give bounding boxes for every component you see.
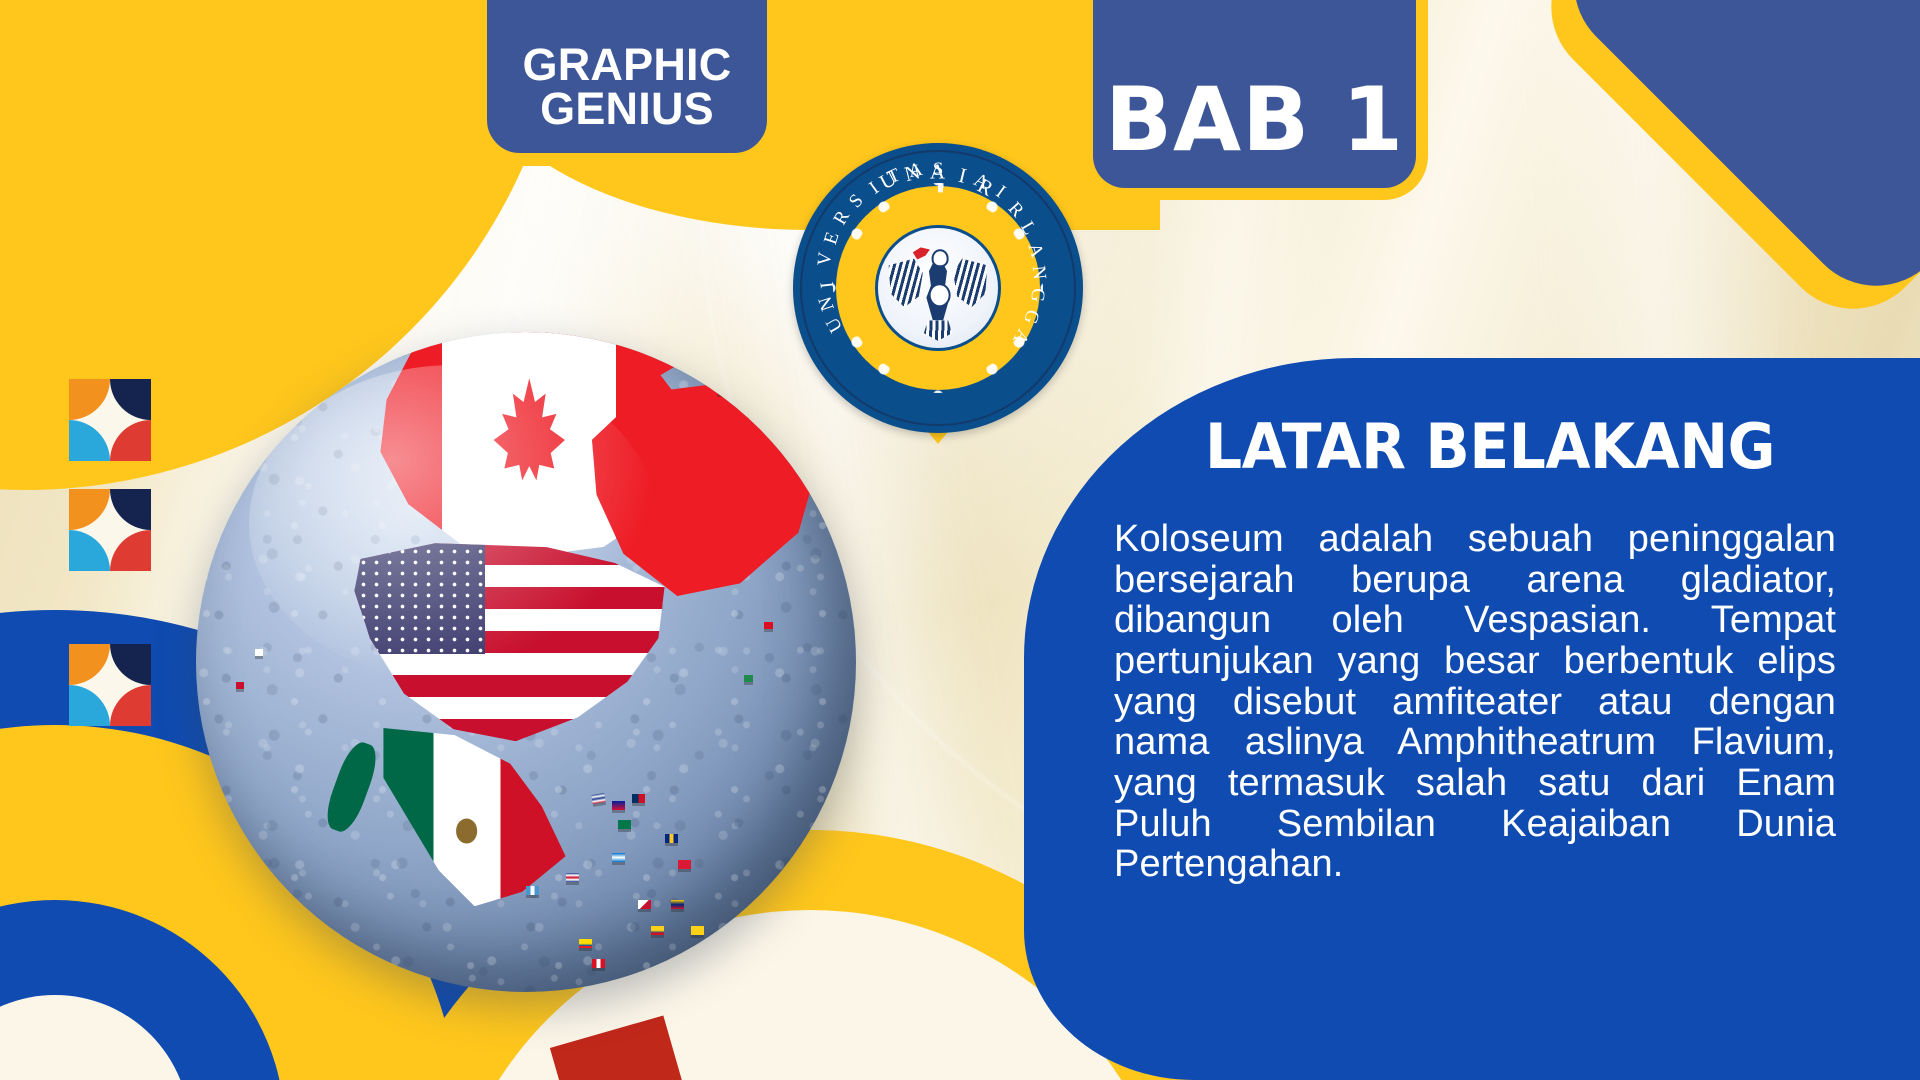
- unair-seal-logo: UNIVERSITAS AIRLANGGAUNAIR: [793, 143, 1083, 433]
- seal-ring-letter: I: [817, 281, 840, 290]
- quad-cyan-quarter: [69, 530, 110, 571]
- usa-flag-stars: [354, 543, 484, 654]
- seal-ring-letter: L: [1015, 218, 1040, 239]
- seal-ring-letter: N: [1027, 265, 1050, 281]
- seal-ring-letter: G: [1025, 287, 1048, 303]
- quad-square-decoration: [69, 379, 151, 461]
- seal-ring-letter: V: [814, 251, 837, 267]
- canada-east-flag-region: [592, 385, 816, 596]
- quad-navy-quarter: [110, 489, 151, 530]
- jamaica-flag-marker: [618, 820, 631, 829]
- quad-red-quarter: [110, 685, 151, 726]
- brazil-flag-marker: [704, 939, 717, 948]
- brand-badge-graphic-genius[interactable]: GRAPHIC GENIUS: [474, 0, 780, 166]
- seal-ring-text: UNIVERSITAS AIRLANGGAUNAIR: [793, 143, 1083, 433]
- baja-california-shape: [320, 738, 383, 836]
- mexico-flag-emblem: [456, 819, 478, 844]
- maple-leaf-icon: [494, 378, 565, 497]
- trinidad-flag-marker: [678, 860, 691, 869]
- content-panel: LATAR BELAKANG Koloseum adalah sebuah pe…: [1024, 358, 1920, 1080]
- quad-red-quarter: [110, 420, 151, 461]
- quad-square-decoration: [69, 644, 151, 726]
- pacific-flag-marker: [236, 682, 244, 689]
- colombia-flag-marker: [651, 926, 664, 935]
- usa-flag-region: [354, 543, 664, 741]
- quad-orange-quarter: [69, 489, 110, 530]
- ecuador-flag-marker: [579, 939, 592, 948]
- honduras-flag-marker: [612, 853, 625, 862]
- barbados-flag-marker: [665, 834, 678, 843]
- quad-navy-quarter: [110, 644, 151, 685]
- mexico-flag-region: [368, 728, 566, 906]
- quad-cyan-quarter: [69, 685, 110, 726]
- seal-ring-letter: S: [845, 190, 868, 213]
- chapter-badge-label: BAB 1: [1105, 76, 1404, 164]
- presentation-slide: UNIVERSITAS AIRLANGGAUNAIR GRAPHIC GENIU…: [0, 0, 1920, 1080]
- guatemala-flag-marker: [526, 886, 539, 895]
- seal-ring-letter: A: [1007, 325, 1033, 348]
- quad-orange-quarter: [69, 644, 110, 685]
- seal-ring-letter: A: [930, 160, 946, 185]
- seal-ring-letter: E: [820, 229, 845, 247]
- dominican-republic-flag-marker: [632, 794, 645, 803]
- greenland-flag-marker: [698, 365, 708, 373]
- venezuela-flag-marker: [671, 900, 684, 909]
- quad-cyan-quarter: [69, 420, 110, 461]
- seal-ring-letter: A: [1022, 241, 1047, 261]
- seal-ring-letter: R: [829, 207, 854, 229]
- guyana-flag-marker: [691, 926, 704, 935]
- greenland-flag-marker: [717, 385, 729, 394]
- quad-red-quarter: [110, 530, 151, 571]
- usa-flag-canton: [354, 543, 484, 654]
- costa-rica-flag-marker: [566, 873, 579, 882]
- globe-continents: [196, 332, 856, 992]
- seal-ring-letter: U: [822, 313, 848, 336]
- atlantic-flag-marker: [744, 675, 753, 682]
- iceland-flag-marker: [308, 372, 319, 380]
- pacific-flag-marker: [255, 649, 263, 656]
- quad-orange-quarter: [69, 379, 110, 420]
- brand-line-2: GENIUS: [540, 83, 714, 134]
- cuba-flag-marker: [591, 793, 605, 804]
- seal-ring-letter: N: [815, 294, 840, 314]
- panel-body-text: Koloseum adalah sebuah peninggalan berse…: [1114, 519, 1836, 885]
- haiti-flag-marker: [612, 801, 625, 810]
- panama-flag-marker: [638, 900, 651, 909]
- quad-square-decoration: [69, 489, 151, 571]
- atlantic-flag-marker: [764, 622, 773, 629]
- globe-with-country-flags-icon: [196, 332, 856, 992]
- seal-ring-letter: R: [1003, 198, 1028, 222]
- quad-navy-quarter: [110, 379, 151, 420]
- seal-ring-letter: G: [1018, 307, 1043, 327]
- panel-title: LATAR BELAKANG: [1137, 416, 1844, 478]
- seal-ring-letter: I: [956, 163, 970, 189]
- peru-flag-marker: [592, 959, 605, 968]
- brand-badge-label: GRAPHIC GENIUS: [523, 43, 732, 131]
- chapter-badge[interactable]: BAB 1: [1081, 0, 1428, 200]
